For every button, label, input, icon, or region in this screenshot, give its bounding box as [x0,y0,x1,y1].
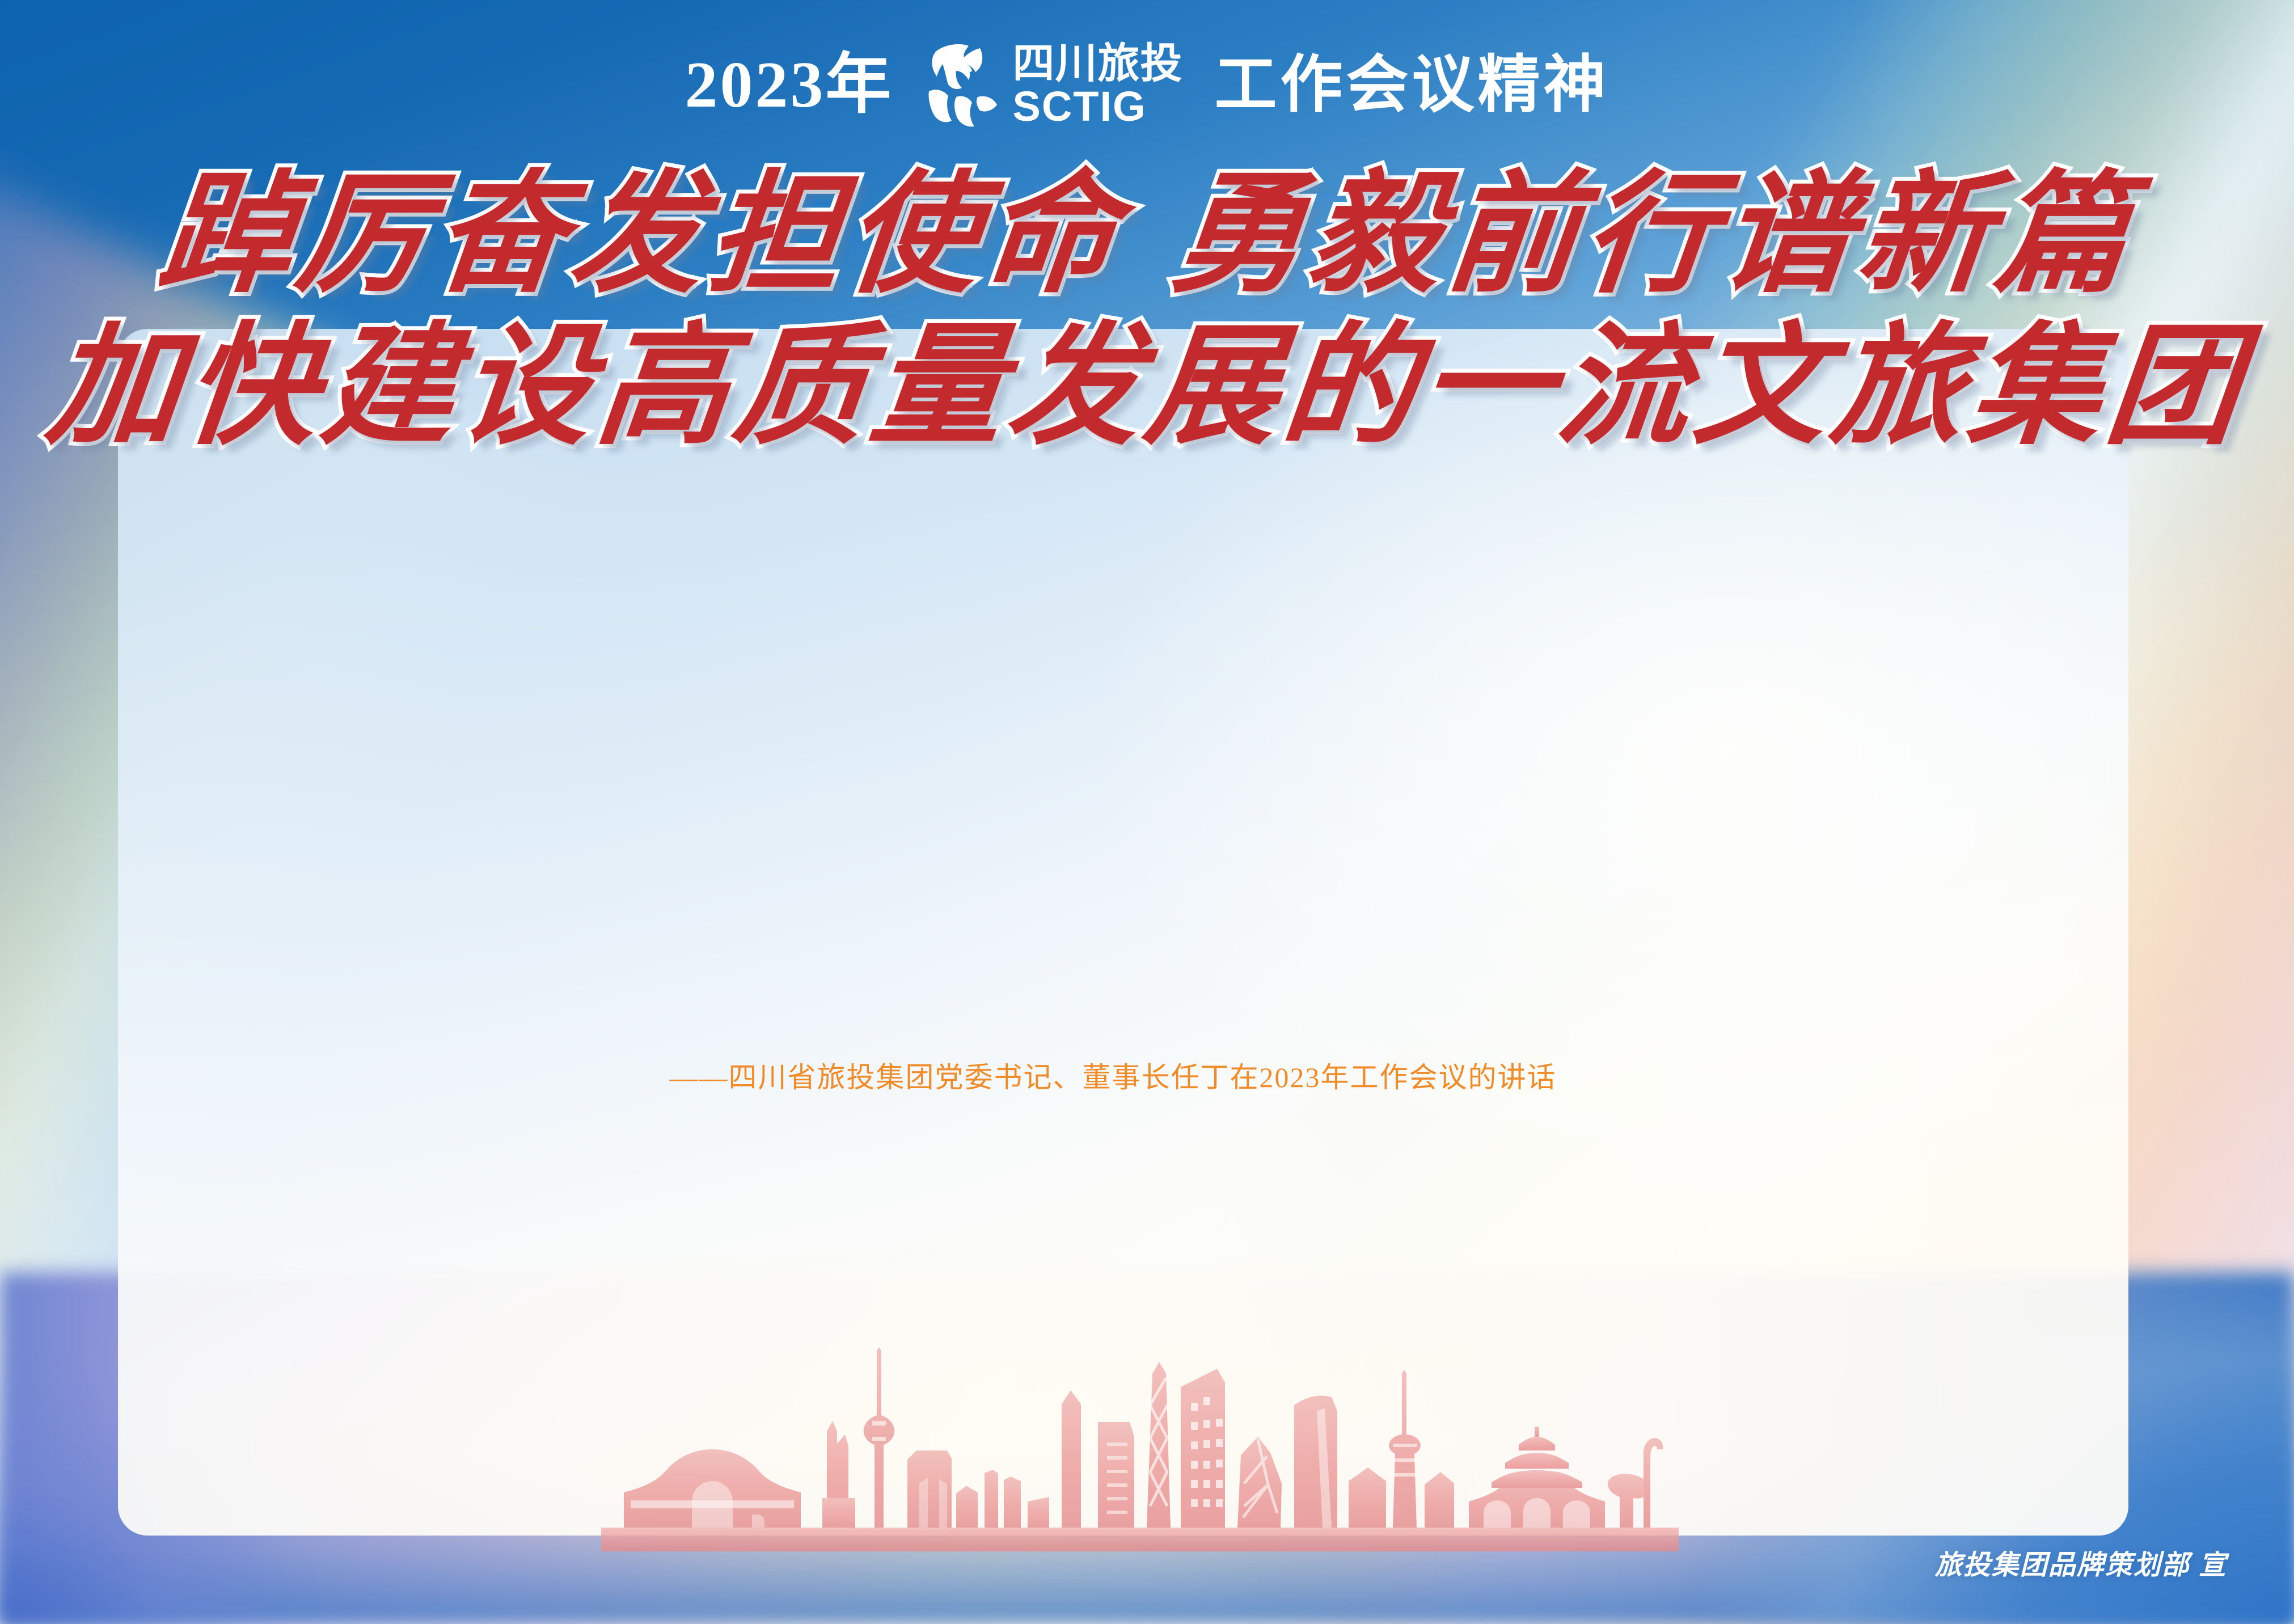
brand-name-en: SCTIG [1013,86,1183,128]
brand-name-cn: 四川旅投 [1013,43,1183,84]
header-year: 2023年 [685,52,894,118]
slogan-line1-part1: 踔厉奋发担使命 [154,170,1128,302]
brand-wordmark: 四川旅投 SCTIG [1013,43,1183,128]
footer: 旅投集团品牌策划部 宣 [1935,1542,2227,1582]
header-suffix: 工作会议精神 [1215,54,1609,116]
slogan-line1-part2: 勇毅前行谱新篇 [1165,170,2140,302]
content-card [118,329,2128,1536]
main-slogan: 踔厉奋发担使命 勇毅前行谱新篇 加快建设高质量发展的一流文旅集团 [0,170,2294,454]
brand-logo: 四川旅投 SCTIG [926,43,1183,128]
attribution-row: ——四川省旅投集团党委书记、董事长任丁在2023年工作会议的讲话 [0,1055,2294,1096]
globe-logo-icon [926,43,998,128]
poster-header: 2023年 四川旅投 SCTIG 工作会议精神 [0,0,2294,170]
attribution-text: ——四川省旅投集团党委书记、董事长任丁在2023年工作会议的讲话 [670,1055,1625,1096]
card-inner-glow [118,329,2128,1536]
slogan-line2: 加快建设高质量发展的一流文旅集团 [42,322,2251,454]
slogan-line-2: 加快建设高质量发展的一流文旅集团 [49,322,2245,454]
footer-publisher: 旅投集团品牌策划部 宣 [1935,1550,2227,1580]
slogan-line-1: 踔厉奋发担使命 勇毅前行谱新篇 [160,170,2133,302]
